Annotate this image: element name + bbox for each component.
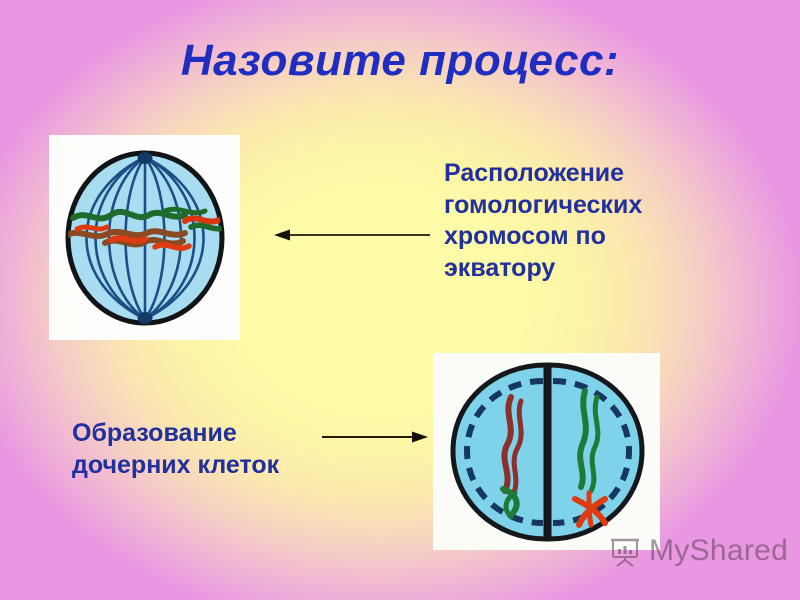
callout-line: Образование xyxy=(72,418,362,450)
figure-metaphase-cell xyxy=(49,135,240,340)
presentation-chart-icon xyxy=(608,534,642,568)
figure-daughter-cells xyxy=(433,353,660,550)
callout-metaphase-description: Расположение гомологических хромосом по … xyxy=(444,158,744,284)
watermark-text: MyShared xyxy=(649,534,788,568)
cell-telophase-daughter-cells-diagram xyxy=(433,353,660,550)
arrow-left-icon xyxy=(272,226,432,244)
page-title: Назовите процесс: xyxy=(0,36,800,86)
callout-line: экватору xyxy=(444,253,744,285)
cell-metaphase-diagram xyxy=(49,135,240,340)
arrow-right-icon xyxy=(320,428,430,446)
callout-line: гомологических xyxy=(444,190,744,222)
callout-daughter-cells-description: Образование дочерних клеток xyxy=(72,418,362,481)
pole-dot-bottom xyxy=(138,312,153,324)
watermark: MyShared xyxy=(608,534,788,568)
slide-canvas: Назовите процесс: xyxy=(0,0,800,600)
callout-line: хромосом по xyxy=(444,221,744,253)
pole-dot-top xyxy=(138,152,153,164)
callout-line: Расположение xyxy=(444,158,744,190)
callout-line: дочерних клеток xyxy=(72,450,362,482)
